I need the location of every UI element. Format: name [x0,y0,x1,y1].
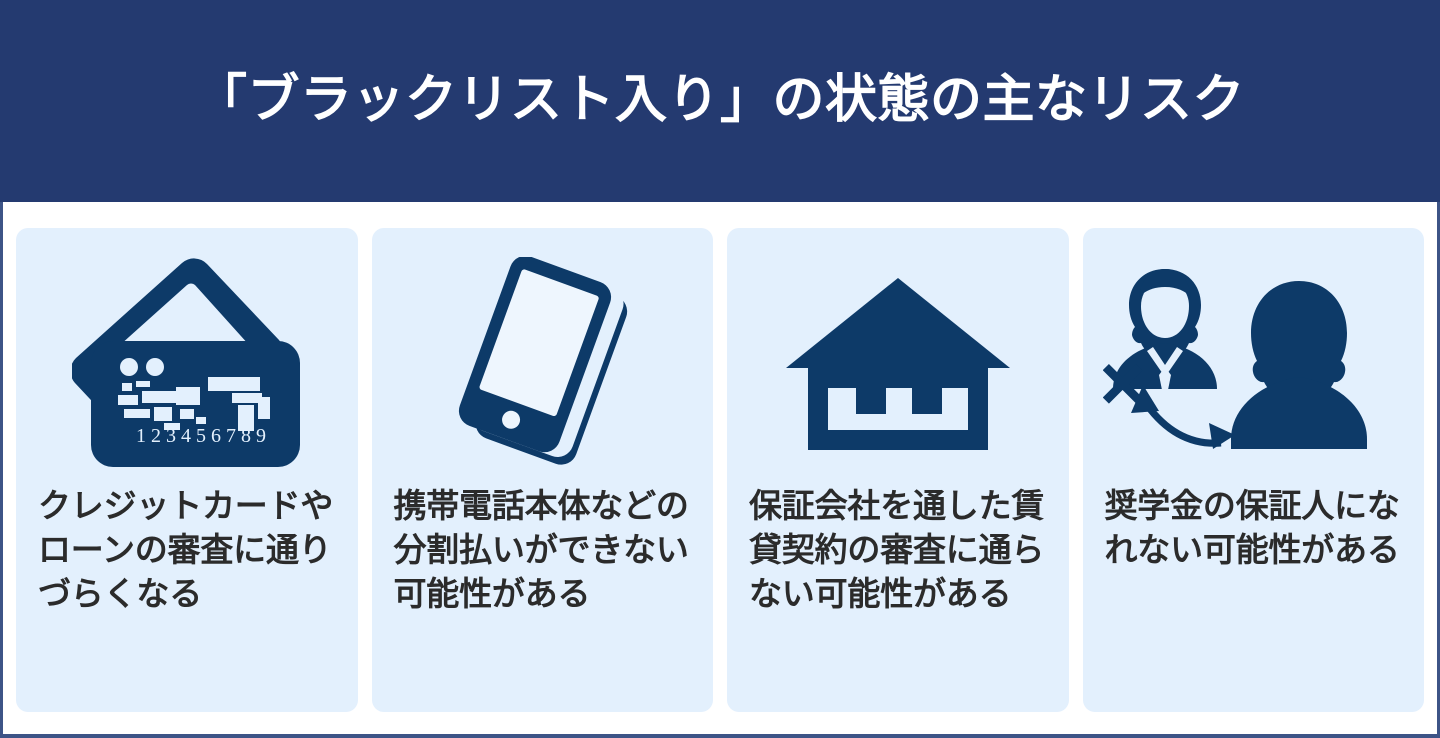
risk-card-label: 奨学金の保証人になれない可能性がある [1097,484,1411,572]
risk-card-house: 保証会社を通した賃貸契約の審査に通らない可能性がある [727,228,1069,712]
credit-cards-icon: 123456789 [30,244,344,484]
page-title: 「ブラックリスト入り」の状態の主なリスク [195,72,1245,129]
house-icon [741,244,1055,484]
risk-card-credit: 123456789 クレジットカードやローンの審査に通りづらくなる [16,228,358,712]
body-panel: 123456789 クレジットカードやローンの審査に通りづらくなる [0,202,1440,738]
risk-card-guarantor: 奨学金の保証人になれない可能性がある [1083,228,1425,712]
smartphone-icon [386,244,700,484]
risk-card-label: 携帯電話本体などの分割払いができない可能性がある [386,484,700,616]
risk-card-phone: 携帯電話本体などの分割払いができない可能性がある [372,228,714,712]
cards-row: 123456789 クレジットカードやローンの審査に通りづらくなる [16,228,1424,712]
risk-card-label: クレジットカードやローンの審査に通りづらくなる [30,484,344,616]
risk-card-label: 保証会社を通した賃貸契約の審査に通らない可能性がある [741,484,1055,616]
header-band: 「ブラックリスト入り」の状態の主なリスク [0,0,1440,202]
two-persons-denied-icon [1097,244,1411,484]
infographic-root: 「ブラックリスト入り」の状態の主なリスク [0,0,1440,738]
svg-text:123456789: 123456789 [136,425,271,447]
